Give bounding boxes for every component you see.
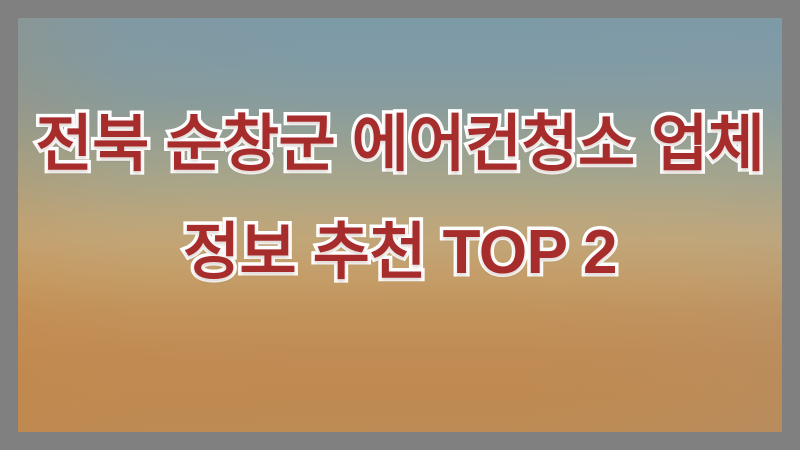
headline-line-1: 전북 순창군 에어컨청소 업체 bbox=[18, 114, 782, 176]
headline-line-2: 정보 추천 TOP 2 bbox=[18, 222, 782, 284]
thumbnail-frame: 전북 순창군 에어컨청소 업체 정보 추천 TOP 2 bbox=[0, 0, 800, 450]
headline-text-block: 전북 순창군 에어컨청소 업체 정보 추천 TOP 2 bbox=[18, 114, 782, 284]
sunset-sky-background: 전북 순창군 에어컨청소 업체 정보 추천 TOP 2 bbox=[18, 18, 782, 432]
